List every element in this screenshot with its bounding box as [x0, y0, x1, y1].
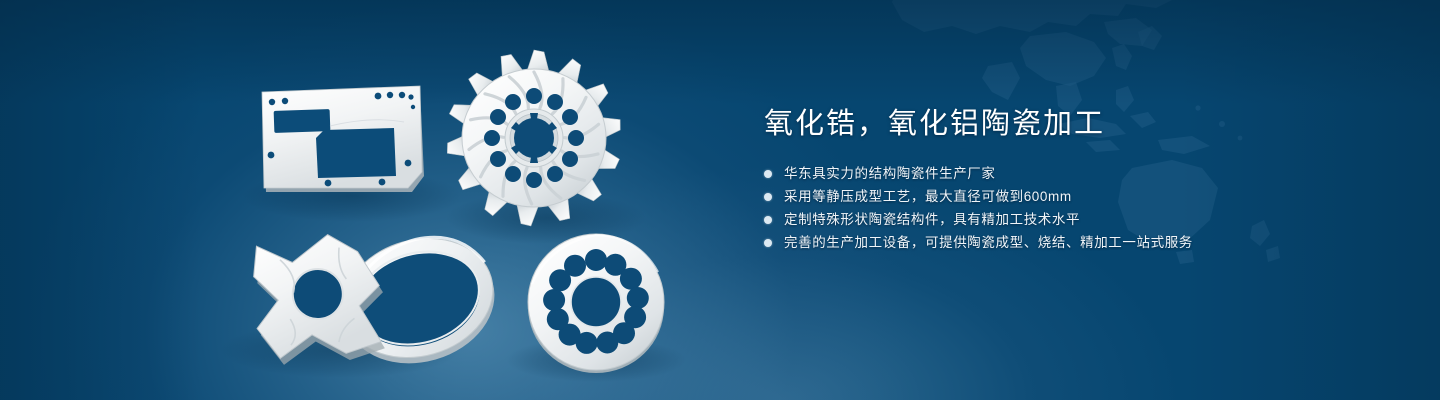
banner-copy: 氧化锆，氧化铝陶瓷加工 华东具实力的结构陶瓷件生产厂家 采用等静压成型工艺，最大… — [764, 104, 1384, 254]
product-ceramic-plate — [262, 86, 424, 192]
feature-item-label: 采用等静压成型工艺，最大直径可做到600mm — [784, 185, 1072, 208]
feature-list: 华东具实力的结构陶瓷件生产厂家 采用等静压成型工艺，最大直径可做到600mm 定… — [764, 162, 1384, 254]
feature-item-label: 华东具实力的结构陶瓷件生产厂家 — [784, 162, 996, 185]
bullet-dot-icon — [764, 239, 772, 247]
feature-item: 采用等静压成型工艺，最大直径可做到600mm — [764, 185, 1384, 208]
bullet-dot-icon — [764, 216, 772, 224]
feature-item: 华东具实力的结构陶瓷件生产厂家 — [764, 162, 1384, 185]
bullet-dot-icon — [764, 193, 772, 201]
feature-item: 定制特殊形状陶瓷结构件，具有精加工技术水平 — [764, 208, 1384, 231]
banner-headline: 氧化锆，氧化铝陶瓷加工 — [764, 104, 1384, 144]
feature-item-label: 完善的生产加工设备，可提供陶瓷成型、烧结、精加工一站式服务 — [784, 231, 1193, 254]
product-ceramic-valve-plate — [528, 234, 664, 373]
product-image-group — [0, 0, 720, 400]
feature-item: 完善的生产加工设备，可提供陶瓷成型、烧结、精加工一站式服务 — [764, 231, 1384, 254]
hero-banner: 氧化锆，氧化铝陶瓷加工 华东具实力的结构陶瓷件生产厂家 采用等静压成型工艺，最大… — [0, 0, 1440, 400]
feature-item-label: 定制特殊形状陶瓷结构件，具有精加工技术水平 — [784, 208, 1080, 231]
bullet-dot-icon — [764, 170, 772, 178]
